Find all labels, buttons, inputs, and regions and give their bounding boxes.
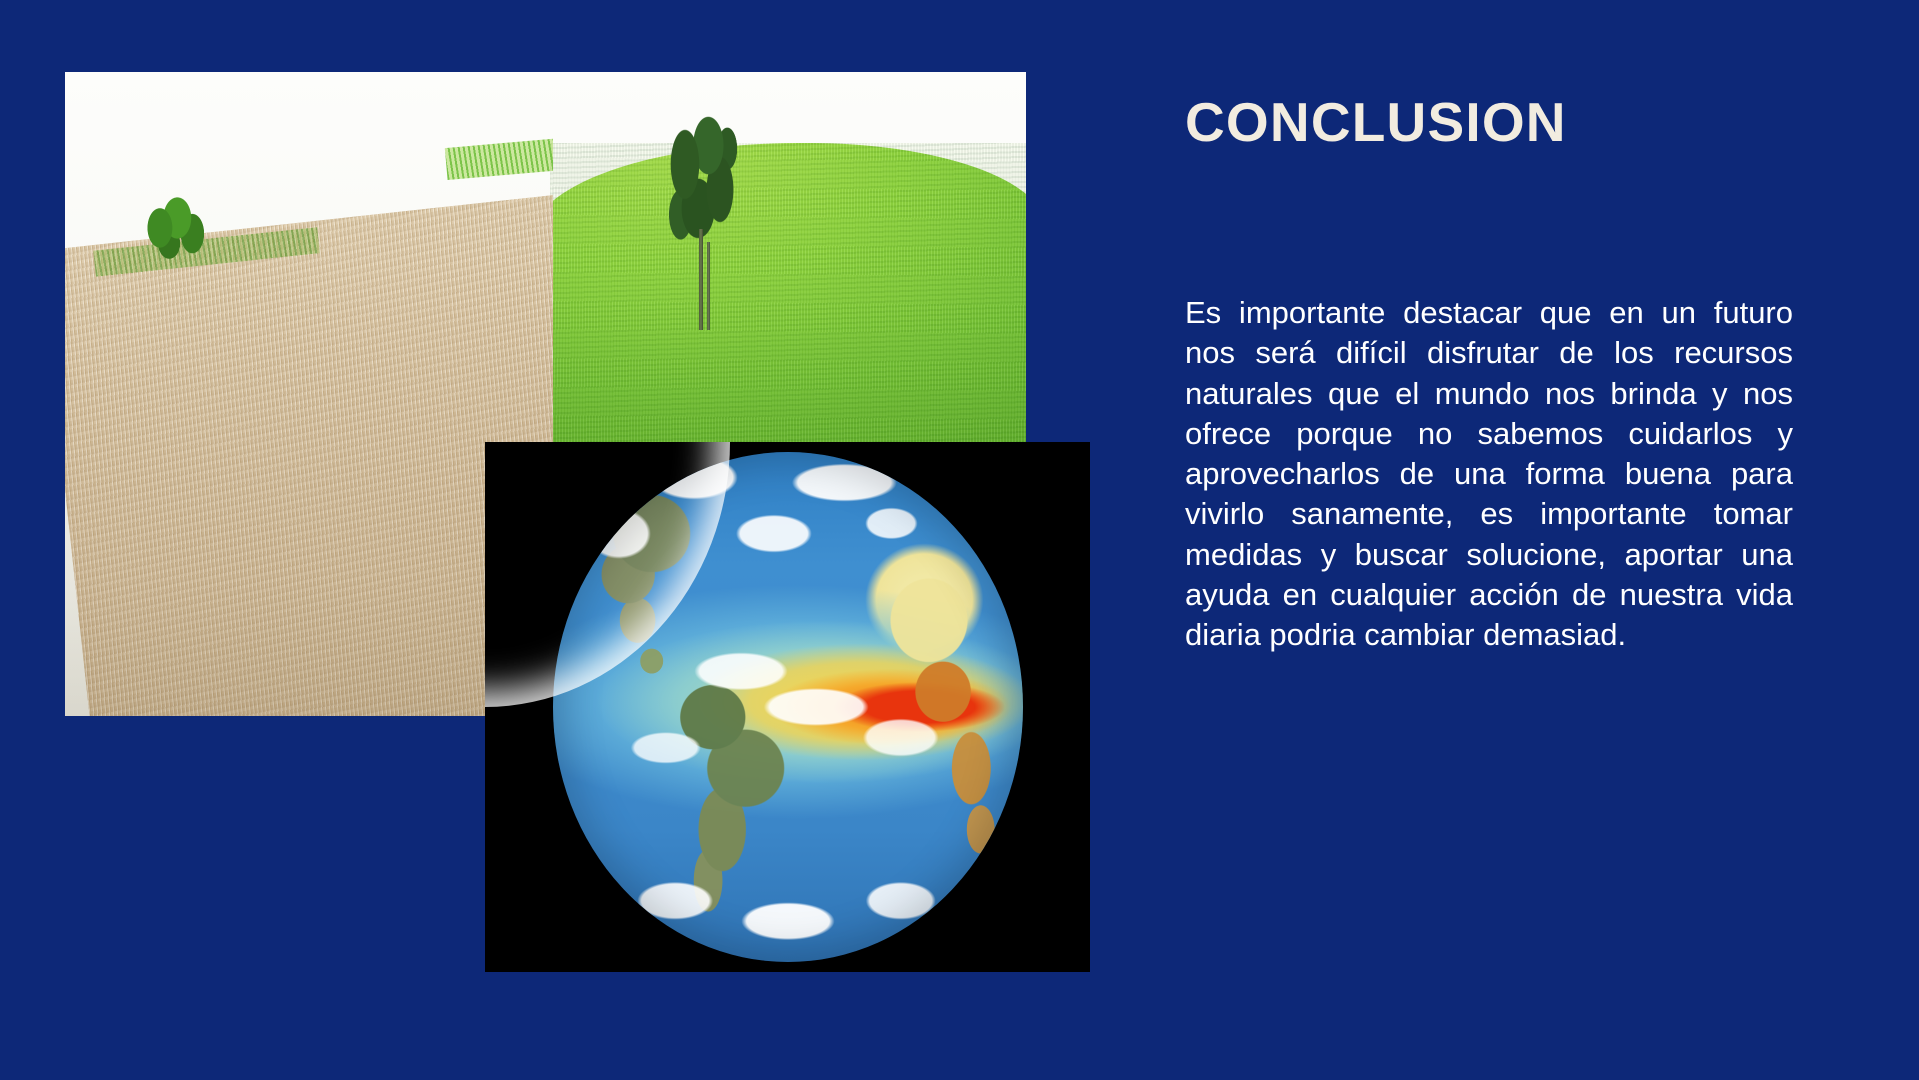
- text-column: CONCLUSION Es importante destacar que en…: [1185, 0, 1793, 1080]
- cloud-layer: [553, 452, 1023, 962]
- dry-hill-shading: [65, 265, 553, 716]
- green-shrub: [146, 191, 205, 262]
- ridge-grass-right: [445, 138, 554, 180]
- tree-icon: [664, 111, 740, 330]
- body-paragraph: Es importante destacar que en un futuro …: [1185, 293, 1793, 656]
- page-title: CONCLUSION: [1185, 92, 1567, 153]
- presentation-slide: CONCLUSION Es importante destacar que en…: [0, 0, 1919, 1080]
- earth-climate-globe-photo: [485, 442, 1090, 972]
- tree-trunk-secondary: [707, 242, 710, 330]
- tree-trunk: [699, 229, 703, 330]
- dry-field-half: [65, 72, 553, 716]
- earth-globe: [553, 452, 1023, 962]
